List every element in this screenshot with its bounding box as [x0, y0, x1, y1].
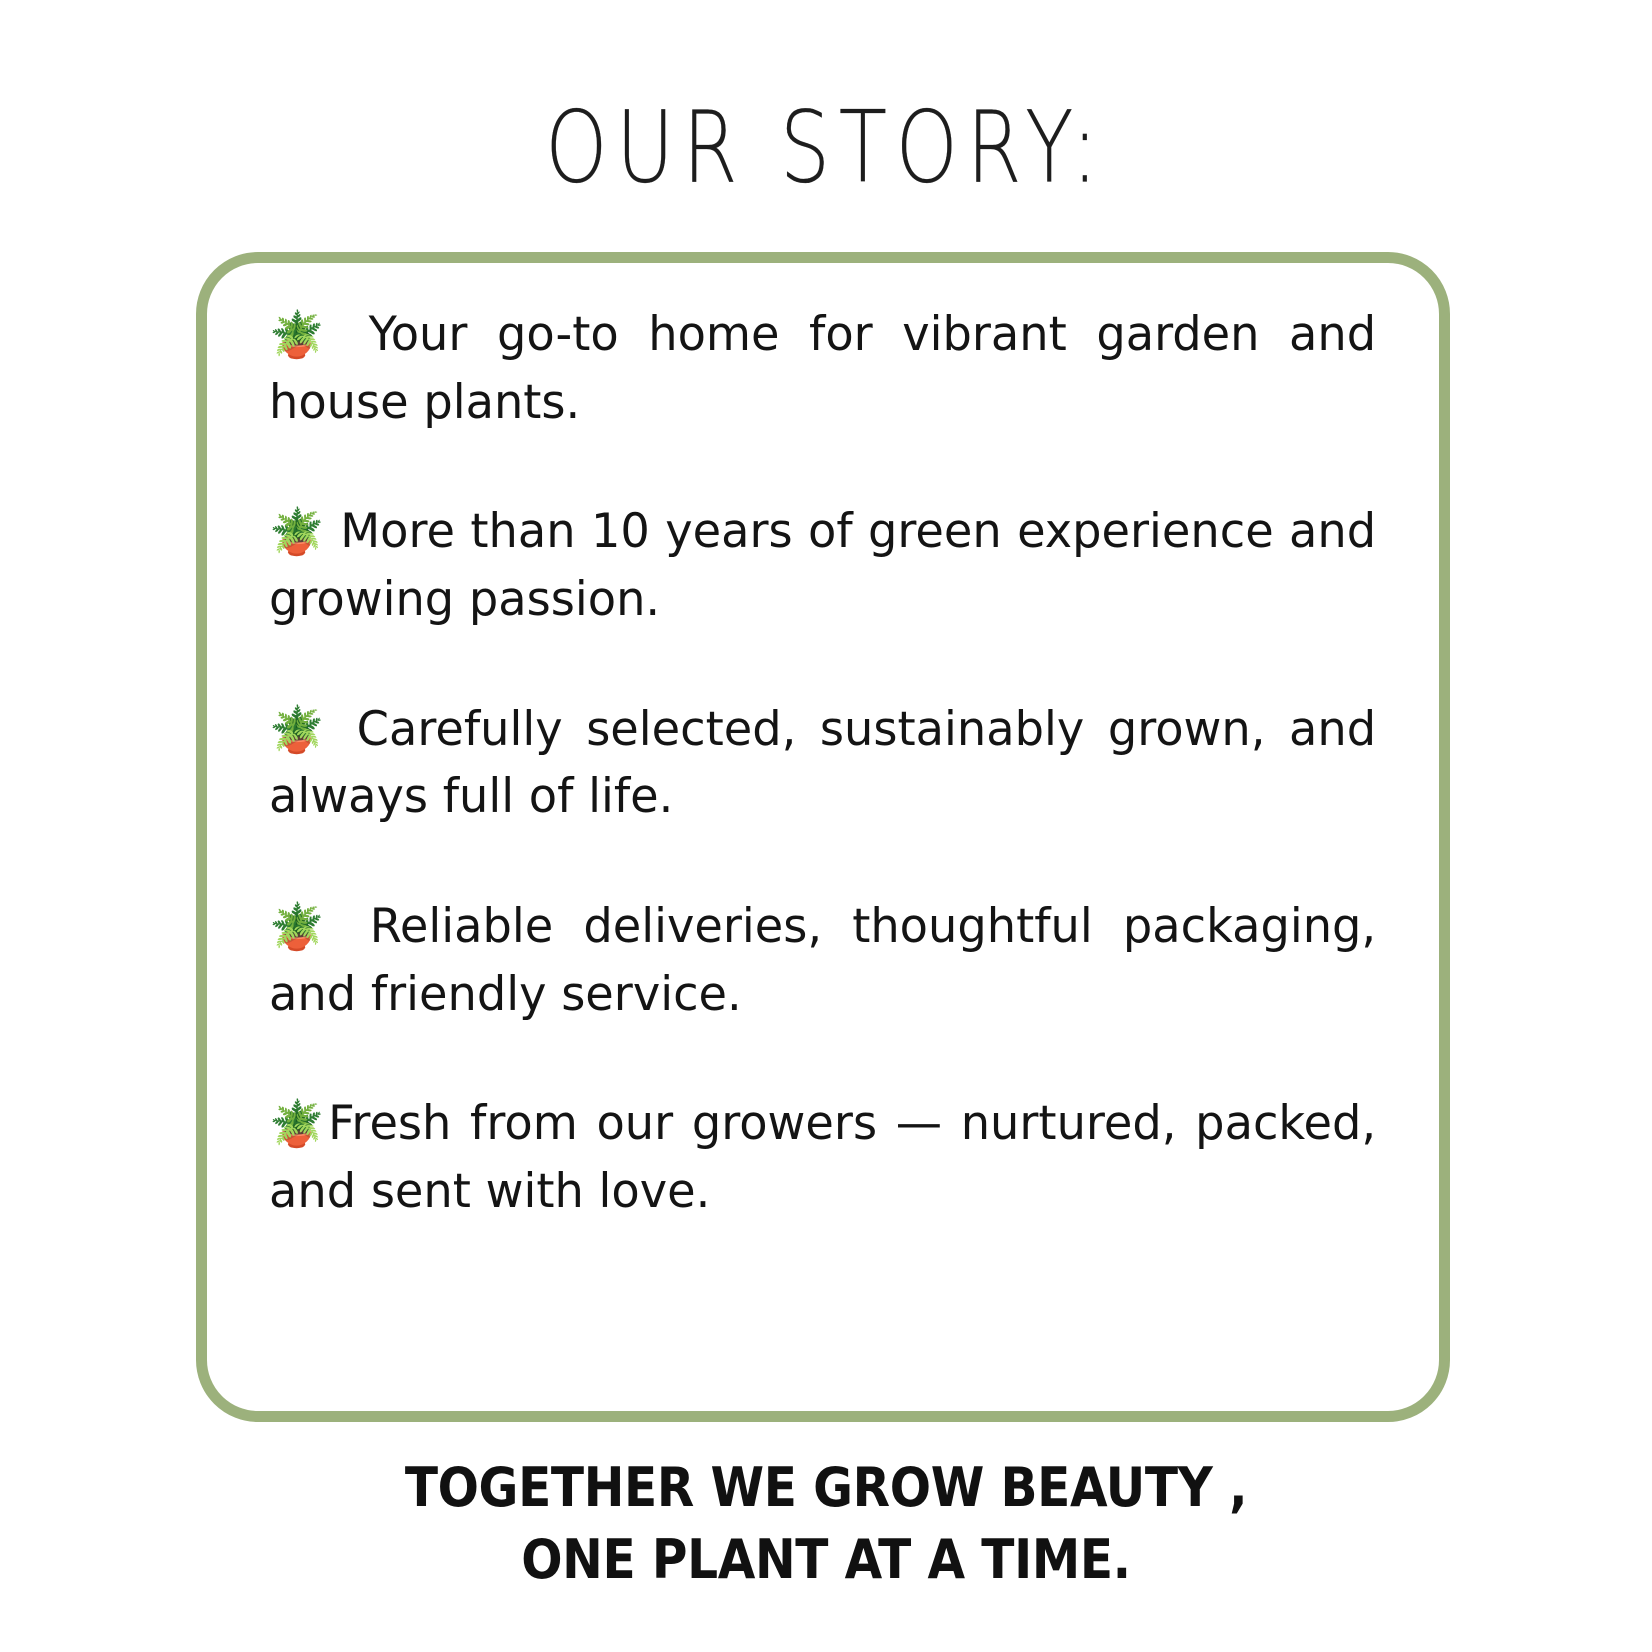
list-item: 🪴 Your go-to home for vibrant garden and… [269, 301, 1376, 436]
story-card: 🪴 Your go-to home for vibrant garden and… [196, 252, 1450, 1422]
list-item: 🪴 Reliable deliveries, thoughtful packag… [269, 893, 1376, 1028]
page-title: OUR STORY: [116, 96, 1537, 200]
potted-plant-icon: 🪴 [269, 1097, 328, 1150]
potted-plant-icon: 🪴 [269, 703, 333, 756]
story-card-content: 🪴 Your go-to home for vibrant garden and… [269, 301, 1393, 1381]
list-item-label: More than 10 years of green experience a… [269, 504, 1376, 627]
our-story-poster: OUR STORY: 🪴 Your go-to home for vibrant… [0, 0, 1652, 1652]
list-item-label: Fresh from our growers — nurtured, packe… [269, 1096, 1376, 1219]
list-item: 🪴Fresh from our growers — nurtured, pack… [269, 1090, 1376, 1225]
potted-plant-icon: 🪴 [269, 505, 325, 558]
list-item-label: Carefully selected, sustainably grown, a… [269, 702, 1376, 825]
tagline-line-1: TOGETHER WE GROW BEAUTY , [83, 1452, 1570, 1524]
potted-plant-icon: 🪴 [269, 308, 339, 361]
tagline-line-2: ONE PLANT AT A TIME. [83, 1524, 1570, 1596]
story-bullet-list: 🪴 Your go-to home for vibrant garden and… [269, 301, 1393, 1226]
tagline: TOGETHER WE GROW BEAUTY , ONE PLANT AT A… [83, 1452, 1570, 1597]
potted-plant-icon: 🪴 [269, 900, 340, 953]
list-item-label: Your go-to home for vibrant garden and h… [269, 307, 1376, 430]
list-item-label: Reliable deliveries, thoughtful packagin… [269, 899, 1376, 1022]
list-item: 🪴 More than 10 years of green experience… [269, 498, 1376, 633]
list-item: 🪴 Carefully selected, sustainably grown,… [269, 696, 1376, 831]
